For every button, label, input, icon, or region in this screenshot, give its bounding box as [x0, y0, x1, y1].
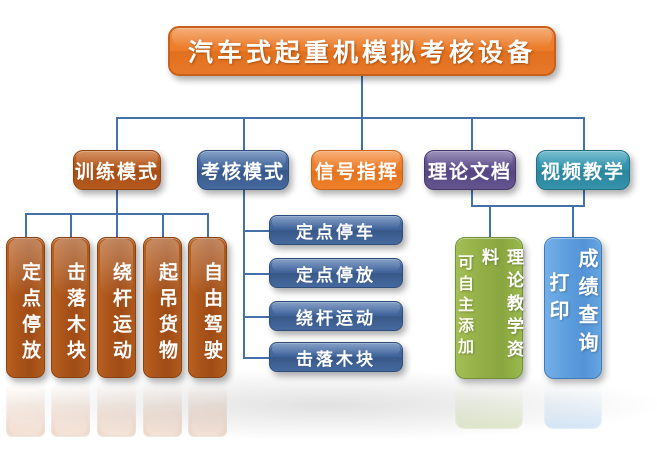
connector-video-stem	[583, 190, 585, 206]
node-exam-child-3[interactable]: 绕杆运动	[269, 301, 403, 331]
node-training-child-1[interactable]: 定点停放	[6, 237, 45, 378]
connector-exam-branch-1	[243, 230, 270, 232]
diagram-canvas: 汽车式起重机模拟考核设备 训练模式 考核模式 信号指挥 理论文档 视频教学 定点…	[0, 0, 657, 457]
node-training-child-3[interactable]: 绕杆运动	[97, 237, 136, 378]
node-video-child-main: 成绩查询	[573, 238, 602, 360]
connector-training-leaf-5	[207, 213, 209, 238]
connector-training-leaf-3	[116, 213, 118, 238]
connector-training-leaf-1	[25, 213, 27, 238]
node-exam-mode[interactable]: 考核模式	[197, 150, 289, 190]
node-theory-child-sub: 可自主添加	[452, 238, 476, 359]
node-signal-command[interactable]: 信号指挥	[311, 150, 403, 190]
reflection-video-child	[544, 379, 602, 429]
node-training-mode[interactable]: 训练模式	[73, 150, 161, 190]
reflection-training-leaf-4	[143, 379, 182, 437]
node-exam-child-1[interactable]: 定点停车	[269, 215, 403, 245]
node-theory-document[interactable]: 理论文档	[424, 150, 516, 190]
connector-training-stem	[116, 190, 118, 214]
connector-drop-theory-child	[489, 205, 491, 237]
connector-exam-branch-2	[243, 273, 270, 275]
connector-title-stem	[361, 76, 363, 118]
connector-exam-branch-4	[243, 357, 270, 359]
node-training-child-5[interactable]: 自由驾驶	[188, 237, 227, 378]
connector-drop-theory	[471, 117, 473, 150]
node-theory-child[interactable]: 理论教学资料 可自主添加	[455, 237, 523, 379]
connector-drop-exam	[243, 117, 245, 150]
node-training-child-4[interactable]: 起吊货物	[143, 237, 182, 378]
connector-training-leaf-2	[70, 213, 72, 238]
node-video-child-sub: 打印	[544, 238, 573, 328]
reflection-training-leaf-2	[51, 379, 90, 437]
node-theory-child-main: 理论教学资料	[476, 238, 526, 378]
node-training-child-2[interactable]: 击落木块	[51, 237, 90, 378]
node-exam-child-4[interactable]: 击落木块	[269, 342, 403, 372]
connector-drop-training	[116, 117, 118, 150]
connector-main-bus	[116, 117, 583, 119]
reflection-training-leaf-5	[188, 379, 227, 437]
connector-theory-stem	[471, 190, 473, 206]
reflection-theory-child	[455, 379, 523, 429]
node-exam-child-2[interactable]: 定点停放	[269, 258, 403, 288]
reflection-training-leaf-3	[97, 379, 136, 437]
floor-shadow	[0, 370, 657, 440]
node-video-teaching[interactable]: 视频教学	[536, 150, 630, 190]
connector-drop-video-child	[572, 205, 574, 237]
connector-drop-signal	[361, 117, 363, 150]
connector-exam-branch-3	[243, 316, 270, 318]
reflection-training-leaf-1	[6, 379, 45, 437]
connector-training-leaf-4	[162, 213, 164, 238]
node-video-child[interactable]: 成绩查询 打印	[544, 237, 602, 379]
diagram-title: 汽车式起重机模拟考核设备	[168, 26, 556, 76]
connector-drop-video	[583, 117, 585, 150]
